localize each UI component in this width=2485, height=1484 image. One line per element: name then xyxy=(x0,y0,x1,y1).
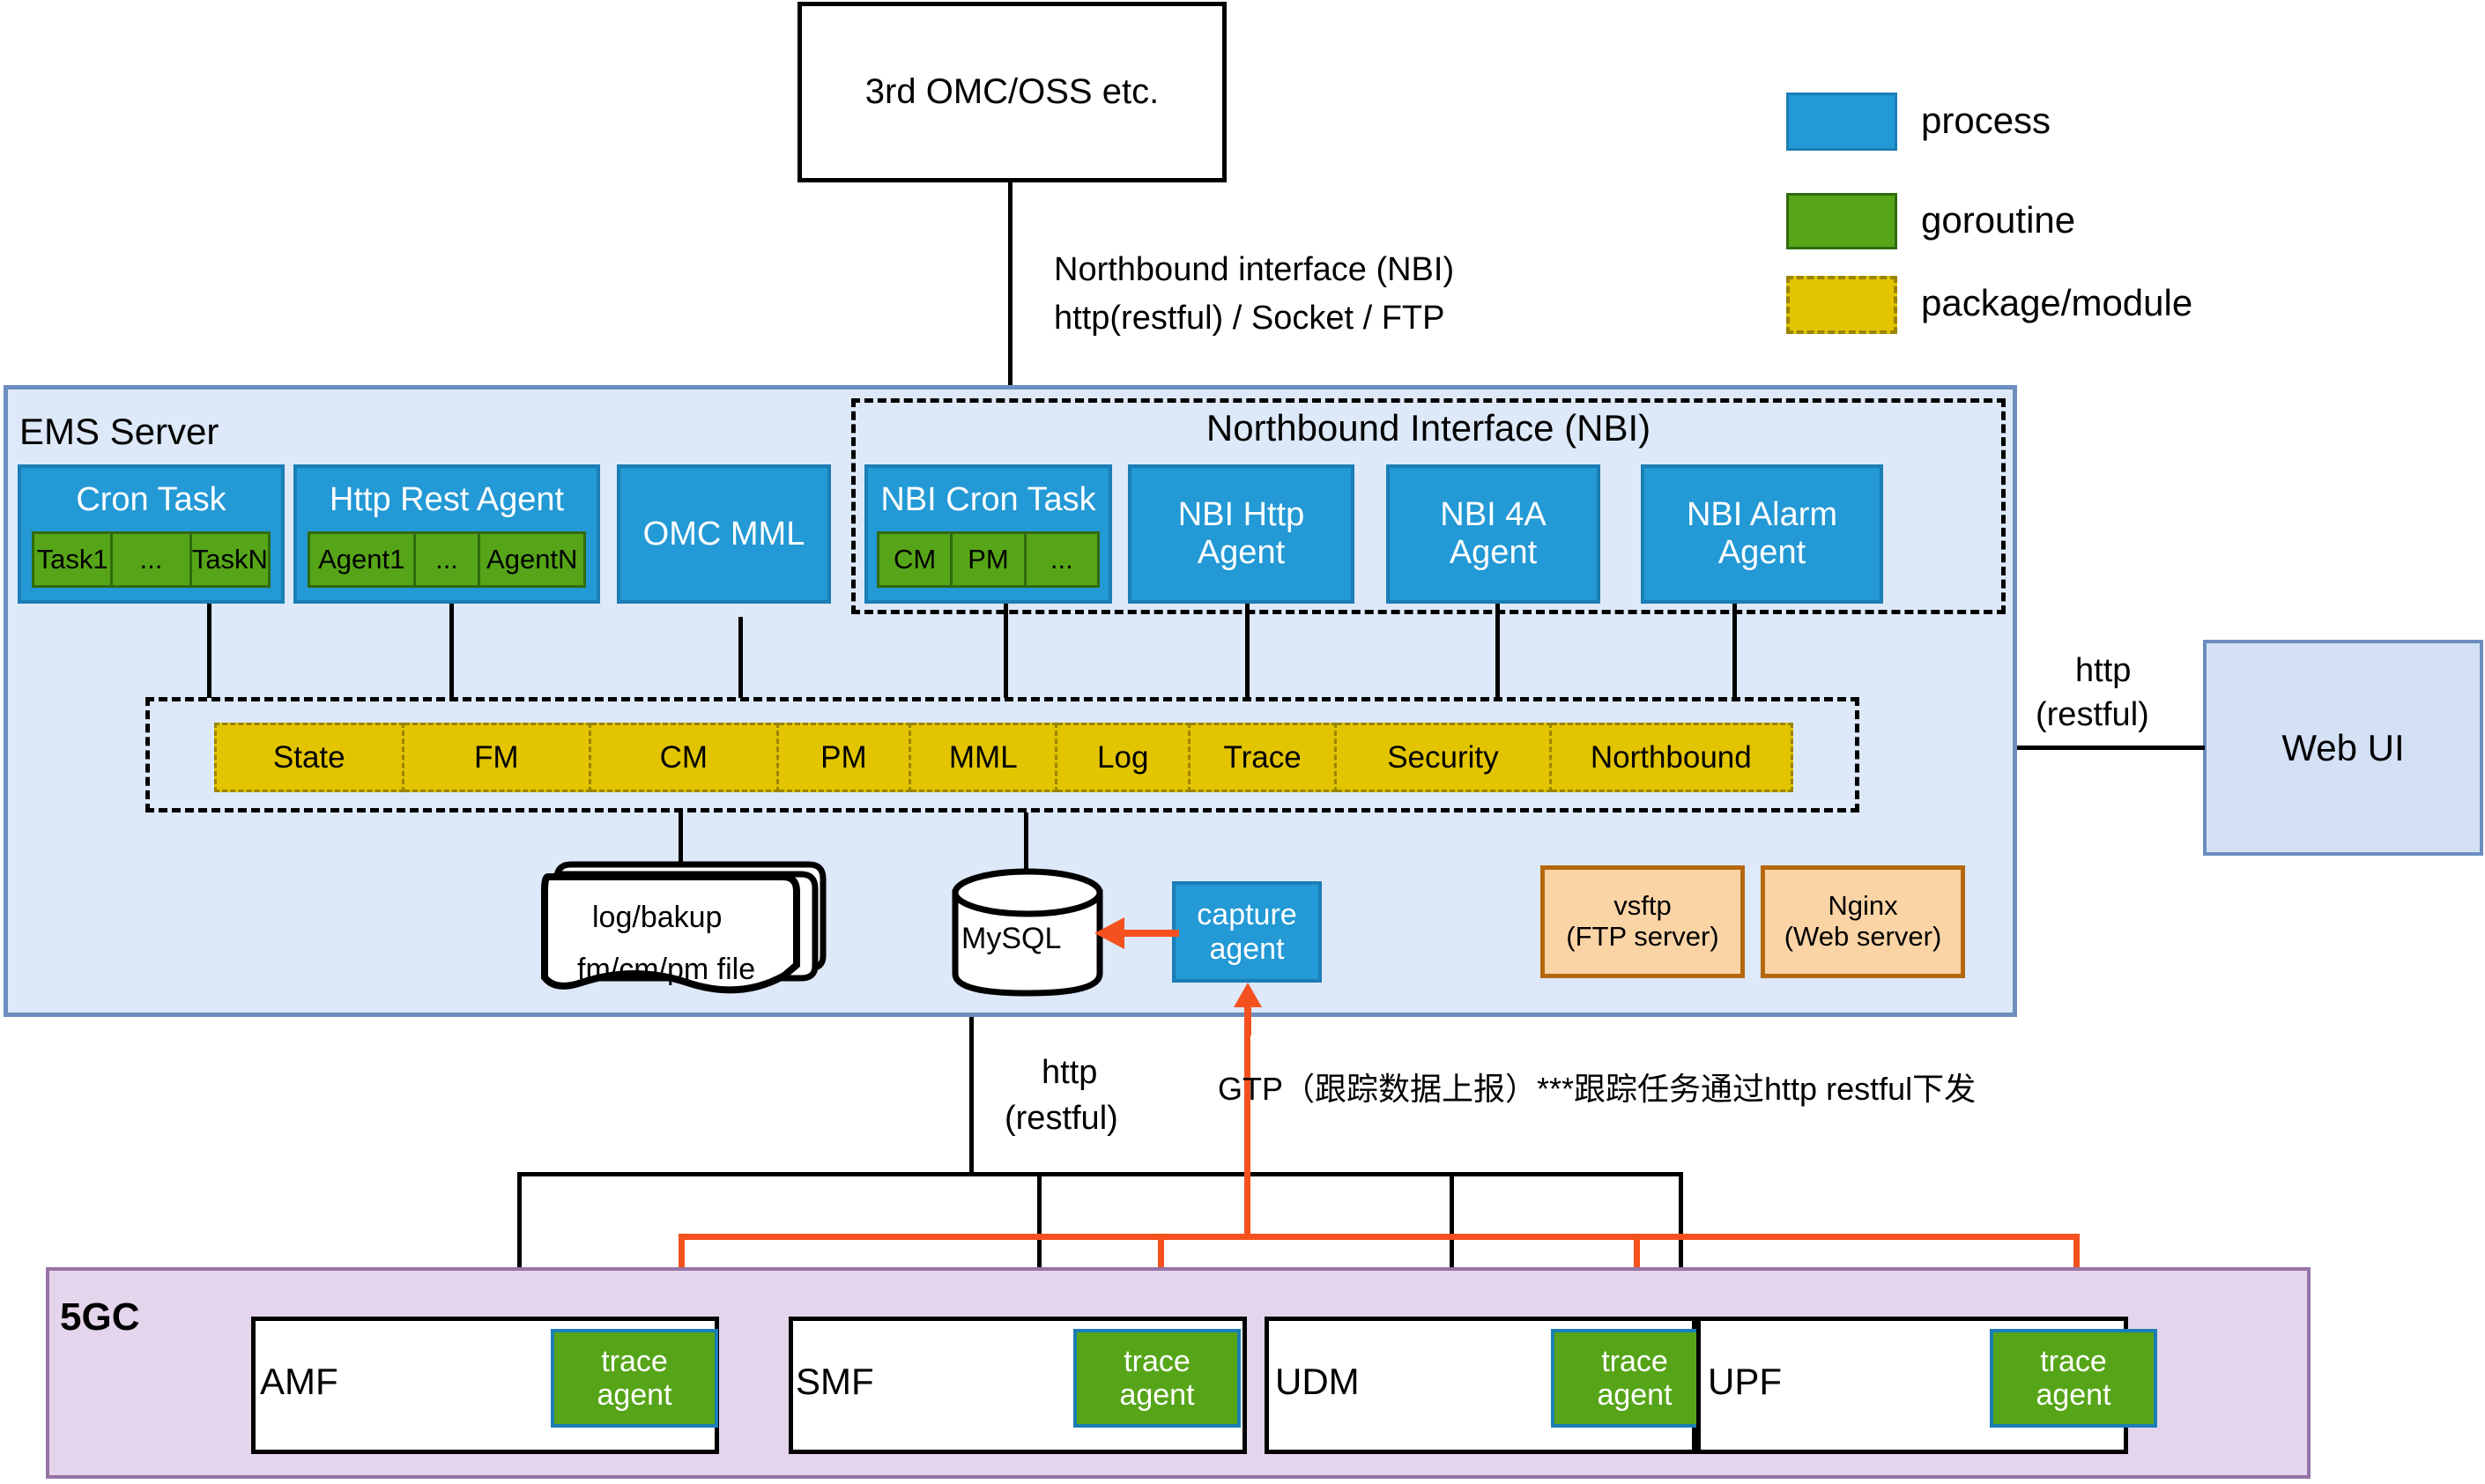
legend-label-goroutine: goroutine xyxy=(1921,199,2075,241)
goroutine-agent-ellipsis: ... xyxy=(416,531,481,588)
southbound-http-trunk-horizontal xyxy=(517,1172,1683,1176)
nginx-label-line1: Nginx xyxy=(1828,891,1897,922)
legend-label-package: package/module xyxy=(1921,282,2192,324)
connector-packages-to-database xyxy=(1024,812,1028,869)
vsftp-server-box: vsftp (FTP server) xyxy=(1540,865,1745,978)
file-store-label-line2: fm/cm/pm file xyxy=(577,953,755,987)
package-pm: PM xyxy=(779,723,912,792)
nginx-label-line2: (Web server) xyxy=(1784,922,1942,953)
process-http-rest-agent: Http Rest Agent Agent1 ... AgentN xyxy=(293,464,600,604)
legend-swatch-goroutine xyxy=(1786,193,1897,249)
capture-agent-box: capture agent xyxy=(1172,881,1322,983)
package-trace: Trace xyxy=(1191,723,1337,792)
package-log: Log xyxy=(1057,723,1191,792)
process-omc-mml-title: OMC MML xyxy=(643,516,805,553)
legend-swatch-process xyxy=(1786,93,1897,151)
process-nbi-cron-task-title: NBI Cron Task xyxy=(868,468,1109,531)
connector-nbi-4a-agent-to-packages xyxy=(1495,604,1500,698)
nf-smf-label: SMF xyxy=(796,1361,874,1403)
connector-nbi-alarm-agent-to-packages xyxy=(1732,604,1737,698)
nbi-link-line xyxy=(1008,182,1013,391)
process-nbi-4a-agent-title: NBI 4A Agent xyxy=(1440,496,1546,571)
process-nbi-4a-agent: NBI 4A Agent xyxy=(1386,464,1600,604)
web-ui-link-label-line2: (restful) xyxy=(2036,696,2149,734)
nbi-link-label-line2: http(restful) / Socket / FTP xyxy=(1054,300,1444,338)
goroutine-cm: CM xyxy=(877,531,953,588)
trace-agent-amf: trace agent xyxy=(551,1329,718,1428)
trace-agent-smf-line1: trace xyxy=(1124,1345,1191,1378)
nf-udm-label: UDM xyxy=(1275,1361,1360,1403)
process-http-rest-agent-title: Http Rest Agent xyxy=(297,468,597,531)
trace-agent-udm: trace agent xyxy=(1551,1329,1718,1428)
nbi-group-title: Northbound Interface (NBI) xyxy=(851,405,2006,451)
gtp-note-label: GTP（跟踪数据上报）***跟踪任务通过http restful下发 xyxy=(1218,1064,1976,1109)
trace-agent-smf-line2: agent xyxy=(1119,1378,1194,1412)
package-mml: MML xyxy=(911,723,1057,792)
vsftp-label-line1: vsftp xyxy=(1613,891,1671,922)
package-cm: CM xyxy=(591,723,779,792)
nf-amf-label: AMF xyxy=(260,1361,338,1403)
nbi-link-label-line1: Northbound interface (NBI) xyxy=(1054,251,1454,289)
trace-agent-udm-line2: agent xyxy=(1597,1378,1672,1412)
goroutine-nbi-ellipsis: ... xyxy=(1027,531,1100,588)
goroutine-task-ellipsis: ... xyxy=(113,531,191,588)
process-cron-task: Cron Task Task1 ... TaskN xyxy=(18,464,285,604)
third-party-omc-oss-label: 3rd OMC/OSS etc. xyxy=(865,72,1159,112)
connector-ems-to-web-ui xyxy=(2017,746,2205,750)
goroutine-taskn: TaskN xyxy=(192,531,271,588)
process-nbi-http-agent-title: NBI Http Agent xyxy=(1178,496,1305,571)
package-state: State xyxy=(214,723,404,792)
core-network-title: 5GC xyxy=(60,1295,139,1339)
package-fm: FM xyxy=(404,723,592,792)
trace-agent-smf: trace agent xyxy=(1073,1329,1241,1428)
capture-agent-label-line1: capture xyxy=(1197,898,1296,931)
goroutine-agent1: Agent1 xyxy=(308,531,416,588)
trace-agent-upf-line1: trace xyxy=(2040,1345,2107,1378)
vsftp-label-line2: (FTP server) xyxy=(1566,922,1718,953)
trace-agent-amf-line1: trace xyxy=(601,1345,668,1378)
process-omc-mml: OMC MML xyxy=(617,464,831,604)
connector-nbi-cron-task-to-packages xyxy=(1004,604,1008,698)
nf-upf-label: UPF xyxy=(1708,1361,1782,1403)
process-cron-task-title: Cron Task xyxy=(21,468,281,531)
nginx-server-box: Nginx (Web server) xyxy=(1761,865,1965,978)
web-ui-label: Web UI xyxy=(2281,727,2404,768)
package-module-bar: State FM CM PM MML Log Trace Security No… xyxy=(214,723,1793,787)
third-party-omc-oss-box: 3rd OMC/OSS etc. xyxy=(797,2,1227,182)
connector-omc-mml-to-packages xyxy=(738,617,743,698)
legend-swatch-package xyxy=(1786,276,1897,334)
southbound-http-label-line2: (restful) xyxy=(1005,1100,1118,1138)
database-label: MySQL xyxy=(961,922,1061,956)
trace-agent-upf: trace agent xyxy=(1990,1329,2157,1428)
file-store-label-line1: log/bakup xyxy=(592,901,722,935)
goroutine-task1: Task1 xyxy=(32,531,113,588)
goroutine-pm: PM xyxy=(953,531,1026,588)
connector-nbi-http-agent-to-packages xyxy=(1245,604,1250,698)
web-ui-box: Web UI xyxy=(2203,640,2483,856)
process-nbi-alarm-agent: NBI Alarm Agent xyxy=(1641,464,1883,604)
gtp-trunk-horizontal xyxy=(679,1234,2080,1240)
web-ui-link-label-line1: http xyxy=(2075,652,2131,690)
gtp-trunk-vertical xyxy=(1244,1017,1250,1237)
process-nbi-alarm-agent-title: NBI Alarm Agent xyxy=(1687,496,1837,571)
capture-to-database-arrow xyxy=(1091,915,1179,952)
trace-agent-amf-line2: agent xyxy=(597,1378,671,1412)
trace-agent-upf-line2: agent xyxy=(2036,1378,2110,1412)
process-nbi-cron-task: NBI Cron Task CM PM ... xyxy=(864,464,1112,604)
package-northbound: Northbound xyxy=(1552,723,1793,792)
architecture-diagram: 3rd OMC/OSS etc. Northbound interface (N… xyxy=(0,0,2485,1484)
process-nbi-http-agent: NBI Http Agent xyxy=(1128,464,1354,604)
connector-http-rest-agent-to-packages xyxy=(449,604,454,698)
southbound-http-label-line1: http xyxy=(1042,1054,1097,1092)
trace-agent-udm-line1: trace xyxy=(1601,1345,1668,1378)
package-security: Security xyxy=(1337,723,1551,792)
southbound-http-trunk-vertical xyxy=(969,1017,974,1172)
connector-cron-task-to-packages xyxy=(207,604,211,698)
capture-agent-label-line2: agent xyxy=(1209,932,1284,966)
ems-server-title: EMS Server xyxy=(19,411,219,453)
goroutine-agentn: AgentN xyxy=(480,531,586,588)
legend-label-process: process xyxy=(1921,100,2051,142)
